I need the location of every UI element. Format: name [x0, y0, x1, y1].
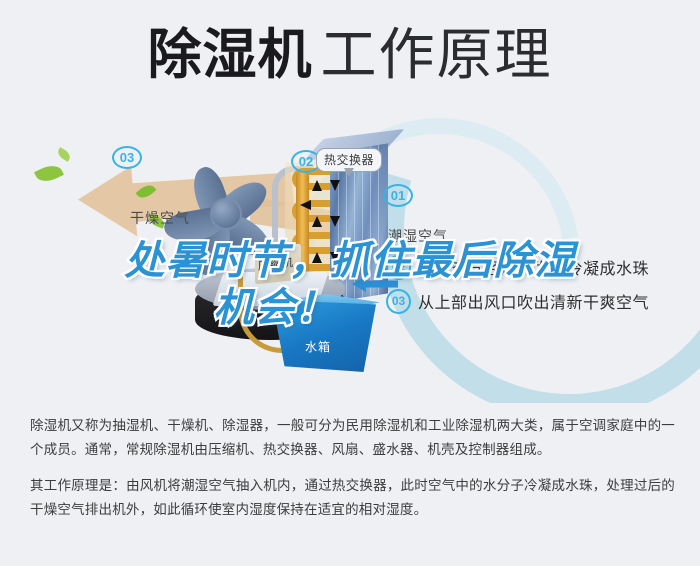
leaf-icon [56, 147, 73, 162]
step-item: 03 从上部出风口吹出清新干爽空气 [386, 284, 686, 318]
callout-pointer-icon [344, 168, 354, 177]
flow-arrow-down-icon [330, 180, 340, 191]
water-tank [272, 300, 376, 372]
step-list: 02 潮湿空气经过蒸发器冷凝成水珠 03 从上部出风口吹出清新干爽空气 [386, 250, 686, 318]
marker-01-label: 01 [383, 184, 413, 207]
step-number: 02 [386, 255, 411, 280]
leaf-icon [34, 161, 64, 186]
flow-arrow-up-icon [312, 216, 322, 227]
step-number: 03 [386, 289, 411, 314]
marker-03: 03 [112, 146, 142, 169]
body-paragraph-2: 其工作原理是：由风机将潮湿空气抽入机内，通过热交换器，此时空气中的水分子冷凝成水… [30, 474, 675, 522]
fan-hub [210, 198, 242, 230]
page-title: 除湿机工作原理 [0, 22, 700, 88]
flow-arrow-left-icon [300, 200, 311, 210]
humid-air-label: 潮湿空气 [388, 226, 448, 246]
infographic-page: 除湿机工作原理 [0, 0, 700, 566]
flow-arrow-down-icon [330, 252, 340, 263]
dry-air-label: 干燥空气 [130, 208, 190, 228]
step-item: 02 潮湿空气经过蒸发器冷凝成水珠 [386, 250, 686, 284]
water-tank-label: 水箱 [305, 338, 331, 355]
step-text: 从上部出风口吹出清新干爽空气 [418, 289, 649, 313]
body-paragraph-1: 除湿机又称为抽湿机、干燥机、除湿器，一般可分为民用除湿机和工业除湿机两大类，属于… [30, 414, 675, 462]
title-light-part: 工作原理 [321, 23, 553, 86]
flow-arrow-up-icon [312, 252, 322, 263]
flow-arrow-up-icon [312, 180, 322, 191]
step-text: 潮湿空气经过蒸发器冷凝成水珠 [418, 255, 649, 279]
body-copy: 除湿机又称为抽湿机、干燥机、除湿器，一般可分为民用除湿机和工业除湿机两大类，属于… [30, 414, 675, 522]
marker-01: 01 [383, 184, 413, 207]
flow-arrow-down-icon [330, 216, 340, 227]
marker-03-label: 03 [112, 146, 142, 169]
title-bold-part: 除湿机 [148, 25, 313, 85]
